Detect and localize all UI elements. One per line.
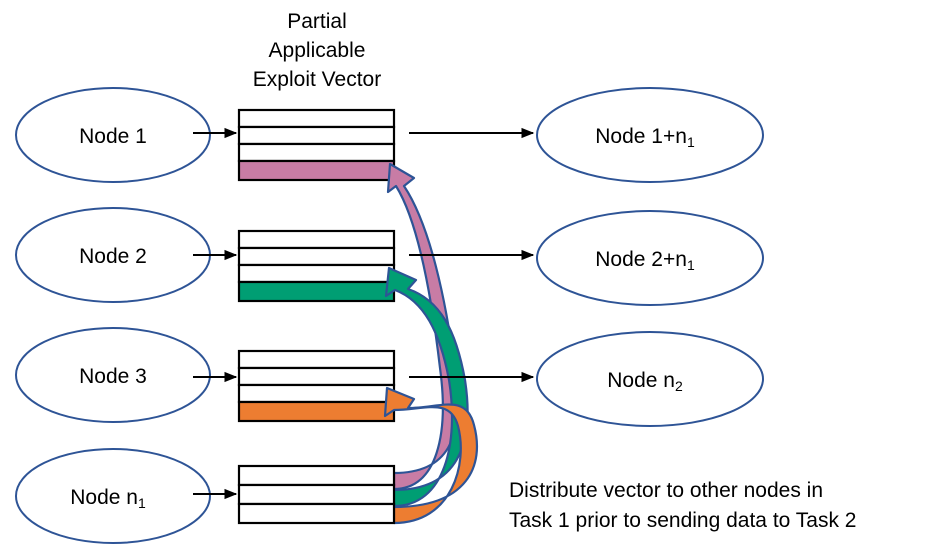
vector-2-row-2[interactable] <box>239 265 394 282</box>
diagram-svg: Partial Applicable Exploit Vector Node 1… <box>0 0 933 551</box>
left-node-2[interactable]: Node 2 <box>16 208 210 302</box>
left-node-3-label: Node 3 <box>79 365 147 388</box>
right-node-2-label: Node 2+n1 <box>595 248 695 273</box>
vector-2-row-0[interactable] <box>239 231 394 248</box>
right-node-1-label: Node 1+n1 <box>595 125 695 150</box>
left-node-1-label: Node 1 <box>79 125 147 148</box>
vector-1-row-1[interactable] <box>239 127 394 144</box>
vector-1[interactable] <box>239 110 394 180</box>
vector-3-row-2[interactable] <box>239 385 394 402</box>
left-node-1[interactable]: Node 1 <box>16 88 210 182</box>
left-node-2-label: Node 2 <box>79 245 147 268</box>
caption-line-1: Distribute vector to other nodes in <box>509 479 823 502</box>
header-line-3: Exploit Vector <box>253 68 381 91</box>
left-node-4-label: Node n1 <box>70 486 146 511</box>
right-node-2[interactable]: Node 2+n1 <box>537 211 763 305</box>
vector-4-row-0[interactable] <box>239 466 394 485</box>
vector-4-row-2[interactable] <box>239 504 394 523</box>
header-line-1: Partial <box>287 10 347 33</box>
left-node-3[interactable]: Node 3 <box>16 328 210 422</box>
diagram-canvas: Partial Applicable Exploit Vector Node 1… <box>0 0 933 551</box>
vector-1-row-3-highlight[interactable] <box>239 161 394 180</box>
vector-4[interactable] <box>239 466 394 523</box>
vector-3-row-3-highlight[interactable] <box>239 402 394 421</box>
right-node-3-label: Node n2 <box>607 369 683 394</box>
left-node-4[interactable]: Node n1 <box>16 449 210 543</box>
vector-3-row-1[interactable] <box>239 368 394 385</box>
caption-line-2: Task 1 prior to sending data to Task 2 <box>509 509 856 532</box>
vector-2-row-1[interactable] <box>239 248 394 265</box>
vector-header-title: Partial Applicable Exploit Vector <box>253 10 381 91</box>
vector-1-row-0[interactable] <box>239 110 394 127</box>
vector-3[interactable] <box>239 351 394 421</box>
vector-2-row-3-highlight[interactable] <box>239 282 394 301</box>
vector-1-row-2[interactable] <box>239 144 394 161</box>
vector-4-row-1[interactable] <box>239 485 394 504</box>
right-node-3[interactable]: Node n2 <box>537 332 763 426</box>
vector-2[interactable] <box>239 231 394 301</box>
right-node-1[interactable]: Node 1+n1 <box>537 88 763 182</box>
vector-3-row-0[interactable] <box>239 351 394 368</box>
caption-text: Distribute vector to other nodes in Task… <box>509 479 856 532</box>
header-line-2: Applicable <box>269 39 366 62</box>
